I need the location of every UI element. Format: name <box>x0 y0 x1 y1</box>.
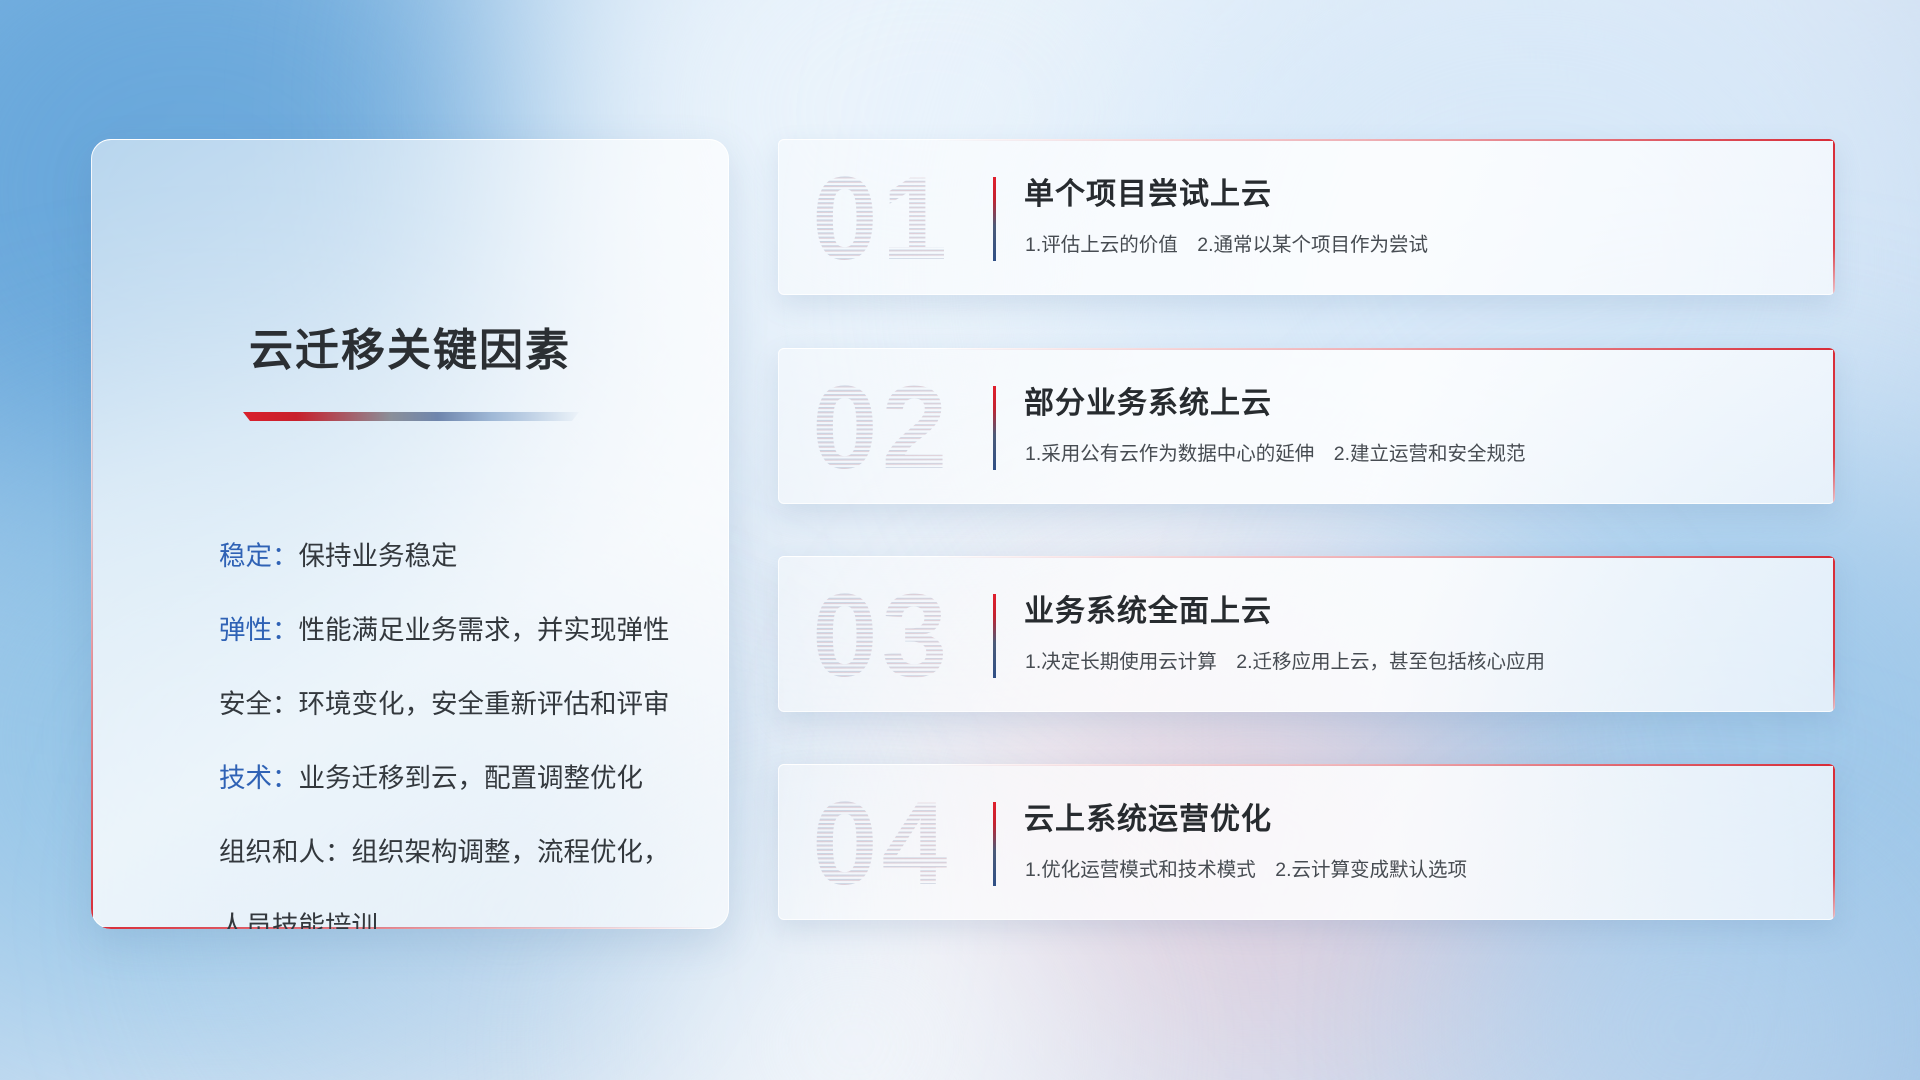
card-right-accent-border <box>1833 764 1835 920</box>
step-card[interactable]: 02部分业务系统上云1.采用公有云作为数据中心的延伸 2.建立运营和安全规范 <box>778 348 1835 504</box>
panel-title: 云迁移关键因素 <box>91 314 729 378</box>
key-factor-item: 组织和人：组织架构调整，流程优化， <box>219 815 689 889</box>
card-top-accent-border <box>935 556 1835 558</box>
step-card[interactable]: 04云上系统运营优化1.优化运营模式和技术模式 2.云计算变成默认选项 <box>778 764 1835 920</box>
card-top-accent-border <box>935 348 1835 350</box>
step-card[interactable]: 01单个项目尝试上云1.评估上云的价值 2.通常以某个项目作为尝试 <box>778 139 1835 295</box>
key-factor-label: 弹性： <box>219 615 299 645</box>
key-factor-text: 业务迁移到云，配置调整优化 <box>299 763 644 793</box>
step-divider <box>993 386 996 470</box>
card-top-accent-border <box>935 764 1835 766</box>
step-divider <box>993 594 996 678</box>
card-right-accent-border <box>1833 348 1835 504</box>
step-description: 1.评估上云的价值 2.通常以某个项目作为尝试 <box>1025 228 1428 257</box>
key-factor-item: 弹性：性能满足业务需求，并实现弹性 <box>219 593 689 667</box>
step-title: 业务系统全面上云 <box>1024 586 1272 630</box>
step-divider <box>993 177 996 261</box>
step-divider <box>993 802 996 886</box>
card-right-accent-border <box>1833 139 1835 295</box>
step-card[interactable]: 03业务系统全面上云1.决定长期使用云计算 2.迁移应用上云，甚至包括核心应用 <box>778 556 1835 712</box>
step-description: 1.决定长期使用云计算 2.迁移应用上云，甚至包括核心应用 <box>1025 645 1545 674</box>
key-factor-item: 稳定：保持业务稳定 <box>219 519 689 593</box>
step-description: 1.采用公有云作为数据中心的延伸 2.建立运营和安全规范 <box>1025 437 1526 466</box>
key-factor-text: 环境变化，安全重新评估和评审 <box>299 689 670 719</box>
key-factor-item: 人员技能培训 <box>219 889 689 929</box>
key-factor-item: 安全：环境变化，安全重新评估和评审 <box>219 667 689 741</box>
key-factor-label: 技术： <box>219 763 299 793</box>
key-factors-list: 稳定：保持业务稳定弹性：性能满足业务需求，并实现弹性安全：环境变化，安全重新评估… <box>219 519 689 929</box>
title-underline-rule <box>243 412 579 421</box>
key-factor-label: 安全： <box>219 689 299 719</box>
panel-left-accent-border <box>91 163 93 927</box>
step-title: 云上系统运营优化 <box>1024 794 1272 838</box>
card-top-accent-border <box>935 139 1835 141</box>
key-factor-text: 人员技能培训 <box>219 911 378 929</box>
card-right-accent-border <box>1833 556 1835 712</box>
step-title: 部分业务系统上云 <box>1024 378 1272 422</box>
key-factors-panel: 云迁移关键因素 稳定：保持业务稳定弹性：性能满足业务需求，并实现弹性安全：环境变… <box>91 139 729 929</box>
step-number-watermark: 03 <box>808 572 978 696</box>
step-title: 单个项目尝试上云 <box>1024 169 1272 213</box>
key-factor-text: 组织架构调整，流程优化， <box>352 837 670 867</box>
step-number-watermark: 04 <box>808 780 978 904</box>
key-factor-text: 保持业务稳定 <box>299 541 458 571</box>
step-number-watermark: 02 <box>808 364 978 488</box>
key-factor-label: 稳定： <box>219 541 299 571</box>
key-factor-item: 技术：业务迁移到云，配置调整优化 <box>219 741 689 815</box>
step-description: 1.优化运营模式和技术模式 2.云计算变成默认选项 <box>1025 853 1467 882</box>
step-number-watermark: 01 <box>808 155 978 279</box>
key-factor-label: 组织和人： <box>219 837 352 867</box>
key-factor-text: 性能满足业务需求，并实现弹性 <box>299 615 670 645</box>
